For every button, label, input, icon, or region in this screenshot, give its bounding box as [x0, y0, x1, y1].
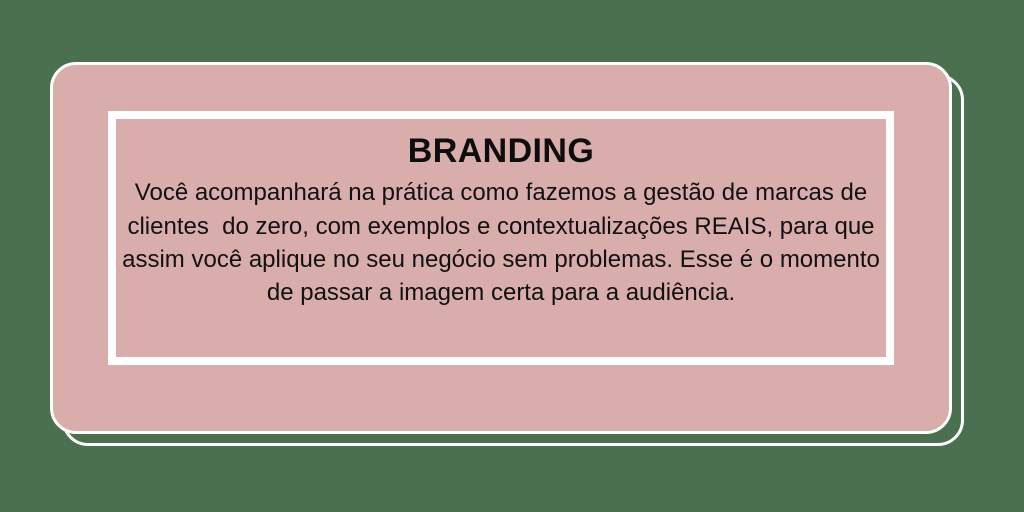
card-content: BRANDING Você acompanhará na prática com… [116, 119, 886, 357]
slide-canvas: BRANDING Você acompanhará na prática com… [0, 0, 1024, 512]
card-body-text: Você acompanhará na prática como fazemos… [116, 176, 886, 308]
branding-card: BRANDING Você acompanhará na prática com… [50, 62, 952, 434]
card-title: BRANDING [408, 133, 594, 170]
